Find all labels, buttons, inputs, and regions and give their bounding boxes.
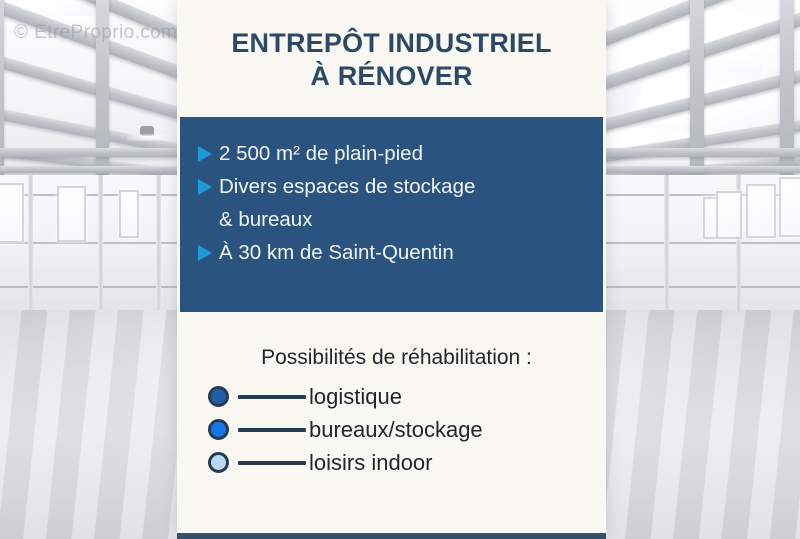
rehabilitation-legend: Possibilités de réhabilitation : logisti… [177, 346, 606, 479]
legend-label: logistique [309, 386, 402, 408]
legend-dot-icon [208, 419, 229, 440]
card-title-area: ENTREPÔT INDUSTRIEL À RÉNOVER [177, 0, 606, 93]
wall-window [746, 184, 776, 238]
arrow-right-icon [194, 139, 216, 169]
feature-item: 2 500 m² de plain-pied [194, 139, 587, 169]
wall-column [28, 152, 33, 310]
card-bottom-bar [177, 533, 606, 539]
features-panel: 2 500 m² de plain-pied Divers espaces de… [180, 117, 603, 312]
listing-graphic: © EtreProprio.com ENTREPÔT INDUSTRIEL À … [0, 0, 800, 539]
legend-item: bureaux/stockage [177, 413, 606, 446]
watermark: © EtreProprio.com [14, 22, 177, 44]
legend-leader-line [238, 428, 306, 432]
legend-label: loisirs indoor [309, 452, 433, 474]
info-card: ENTREPÔT INDUSTRIEL À RÉNOVER 2 500 m² d… [177, 0, 606, 533]
legend-title: Possibilités de réhabilitation : [177, 346, 606, 370]
feature-label: Divers espaces de stockage [219, 172, 475, 202]
wall-window [779, 177, 800, 237]
wall-window [119, 190, 139, 238]
legend-dot-icon [208, 386, 229, 407]
wall-column [156, 152, 161, 310]
legend-leader-line [238, 461, 306, 465]
ceiling-lamp [140, 126, 154, 136]
legend-label: bureaux/stockage [309, 419, 483, 441]
feature-item: À 30 km de Saint-Quentin [194, 238, 587, 268]
feature-item: Divers espaces de stockage [194, 172, 587, 202]
legend-item: loisirs indoor [177, 446, 606, 479]
feature-item-continuation: & bureaux [194, 205, 587, 235]
legend-item: logistique [177, 380, 606, 413]
page-title-line-2: À RÉNOVER [310, 61, 472, 91]
legend-dot-icon [208, 452, 229, 473]
feature-label: 2 500 m² de plain-pied [219, 139, 423, 169]
wall-window [716, 191, 742, 239]
wall-column [98, 152, 103, 310]
arrow-right-icon [194, 238, 216, 268]
wall-window [0, 183, 24, 243]
arrow-right-icon [194, 172, 216, 202]
feature-label: & bureaux [219, 205, 312, 235]
wall-window [57, 186, 86, 242]
legend-leader-line [238, 395, 306, 399]
page-title: ENTREPÔT INDUSTRIEL À RÉNOVER [199, 27, 584, 93]
feature-label: À 30 km de Saint-Quentin [219, 238, 454, 268]
page-title-line-1: ENTREPÔT INDUSTRIEL [231, 28, 551, 58]
